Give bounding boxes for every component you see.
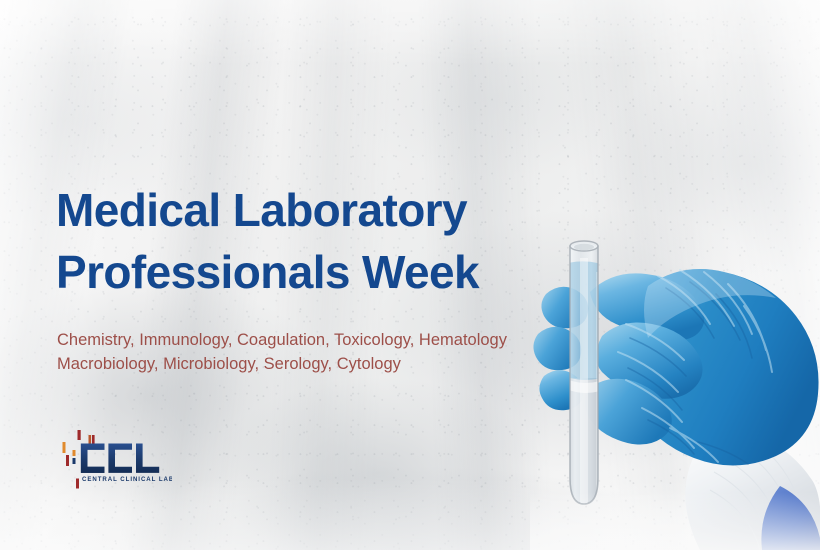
ccl-logo[interactable]: CENTRAL CLINICAL LABS bbox=[52, 428, 172, 490]
marketing-banner: Medical Laboratory Professionals Week Ch… bbox=[0, 0, 820, 550]
logo-wordmark bbox=[81, 444, 159, 473]
discipline-list: Chemistry, Immunology, Coagulation, Toxi… bbox=[57, 328, 587, 376]
page-title: Medical Laboratory Professionals Week bbox=[56, 179, 596, 303]
logo-tagline: CENTRAL CLINICAL LABS bbox=[82, 476, 172, 483]
